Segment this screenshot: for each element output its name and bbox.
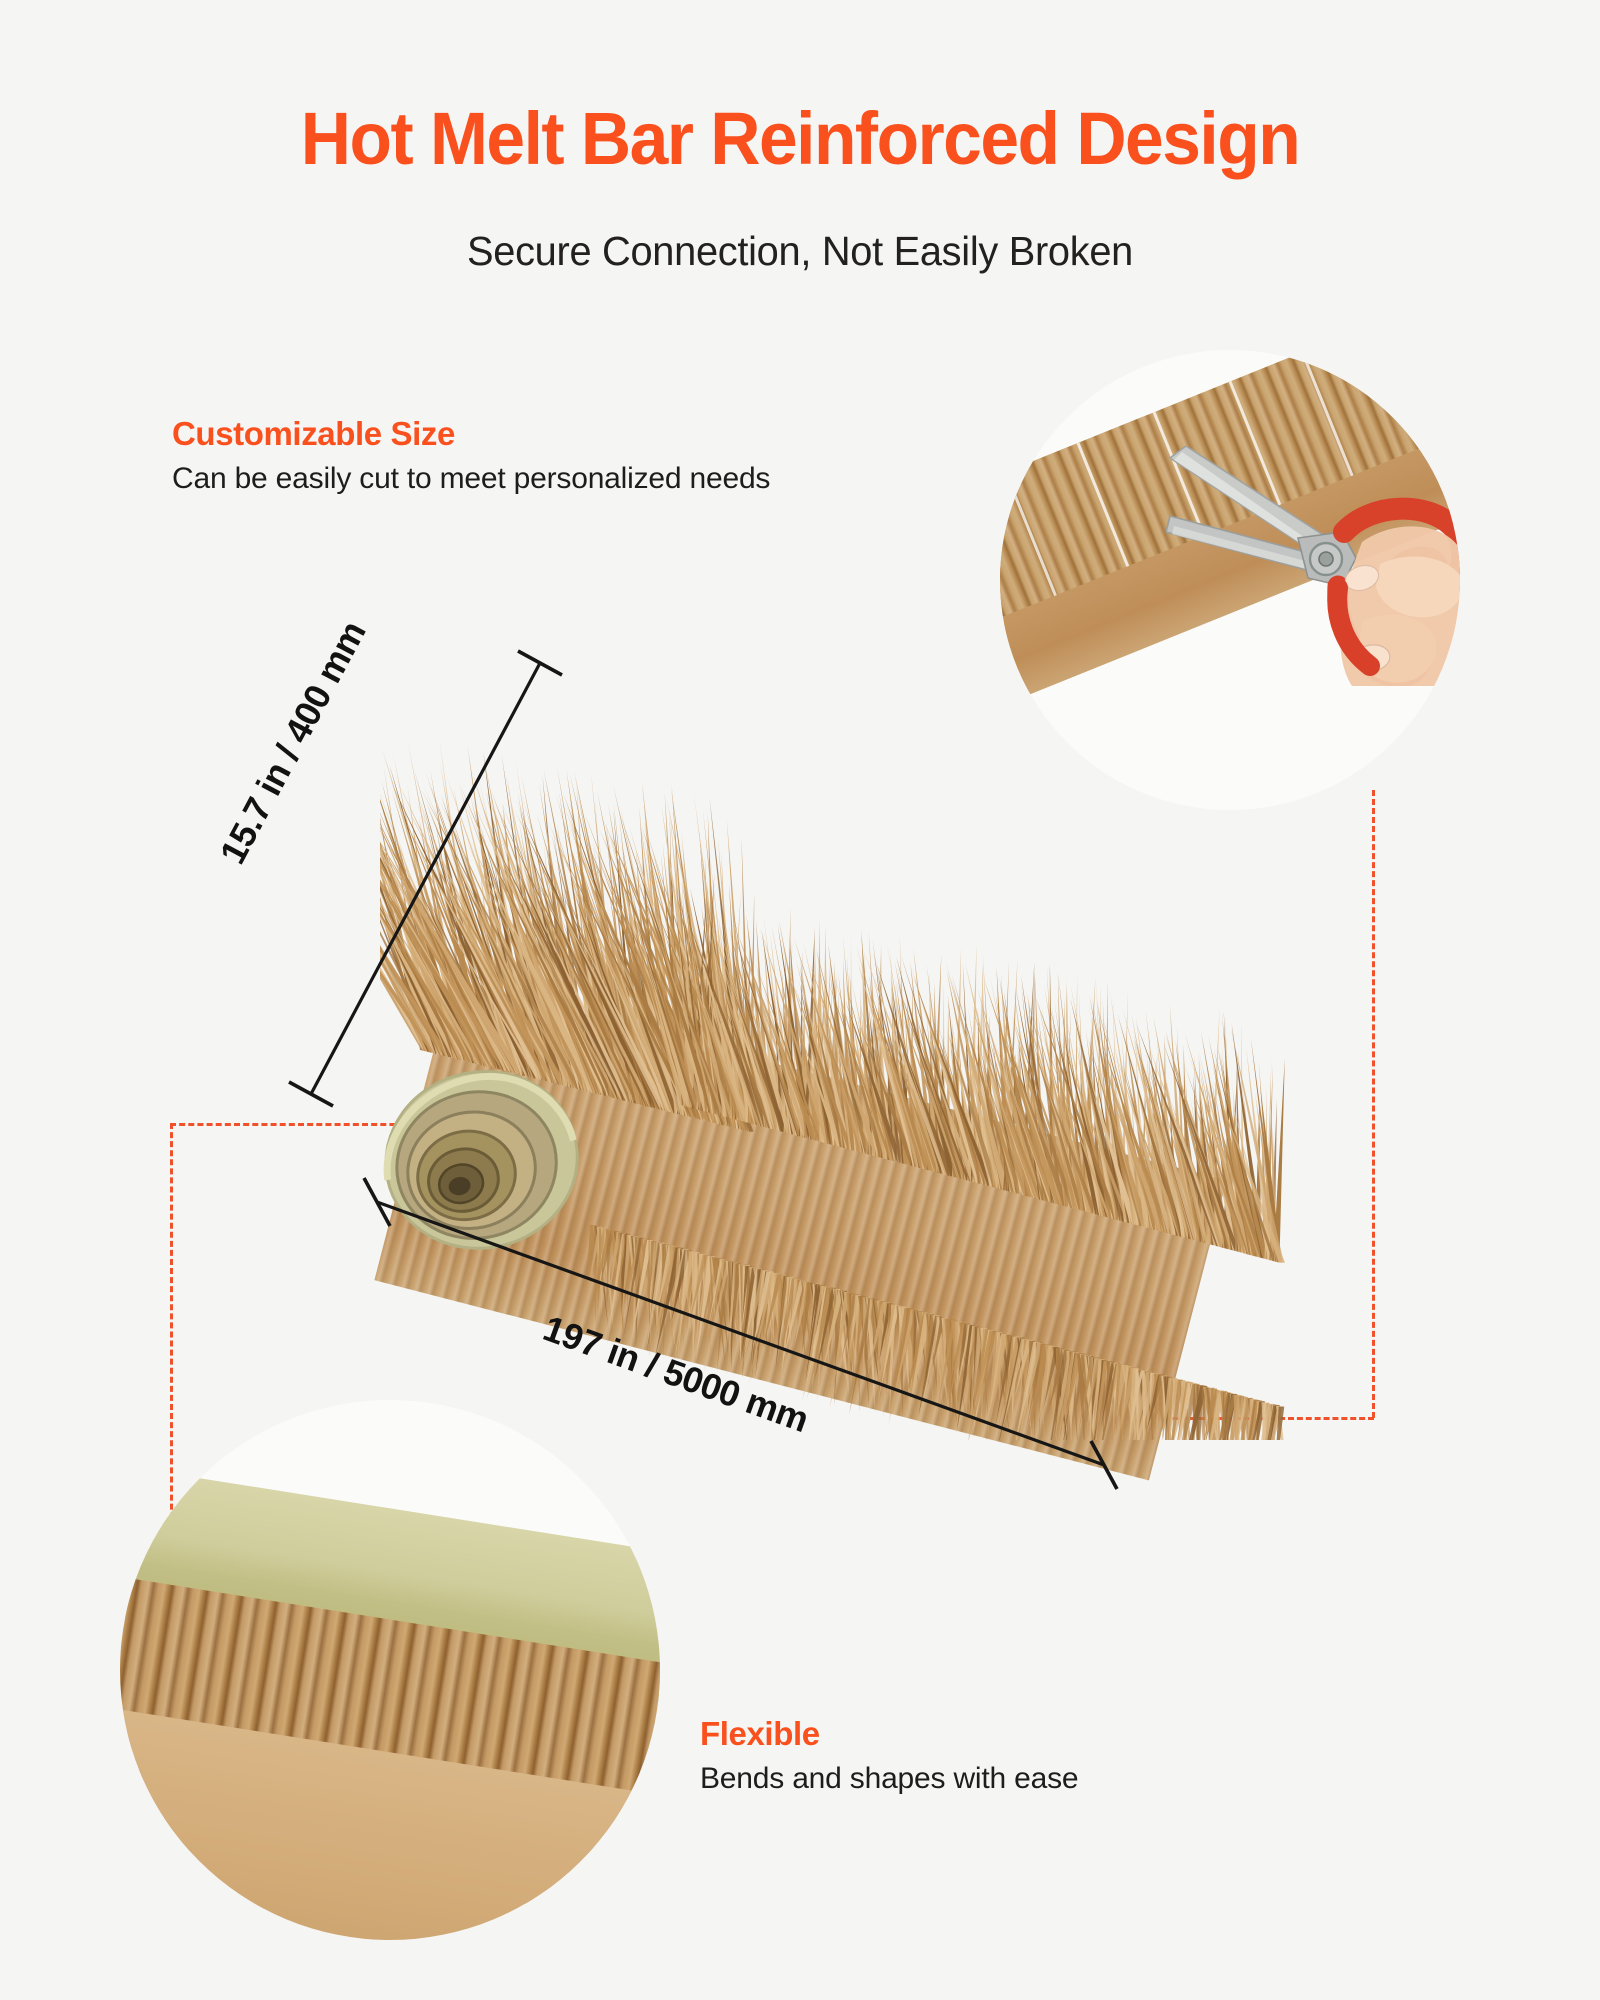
feature-callout-customizable-size: Customizable Size Can be easily cut to m…	[172, 415, 770, 496]
thatch-fringe-layer	[380, 650, 1300, 1440]
height-dimension-label: 15.7 in / 400 mm	[211, 614, 374, 870]
page-subtitle: Secure Connection, Not Easily Broken	[24, 228, 1576, 275]
feature-callout-flexible: Flexible Bends and shapes with ease	[700, 1715, 1078, 1796]
feature-heading: Flexible	[700, 1715, 1078, 1753]
feature-heading: Customizable Size	[172, 415, 770, 453]
inset-hot-melt-bar-closeup	[120, 1400, 660, 1940]
height-dimension-cap-bottom	[289, 1082, 333, 1106]
feature-description: Can be easily cut to meet personalized n…	[172, 462, 770, 496]
product-photo-thatch-roll	[380, 650, 1300, 1440]
hot-melt-bar-image	[120, 1400, 660, 1940]
page-title: Hot Melt Bar Reinforced Design	[48, 100, 1552, 178]
infographic-canvas: Hot Melt Bar Reinforced Design Secure Co…	[0, 0, 1600, 2000]
connector-line-right-vertical	[1372, 790, 1375, 1418]
feature-description: Bends and shapes with ease	[700, 1762, 1078, 1796]
thatch-front-fringe	[120, 1901, 660, 1940]
